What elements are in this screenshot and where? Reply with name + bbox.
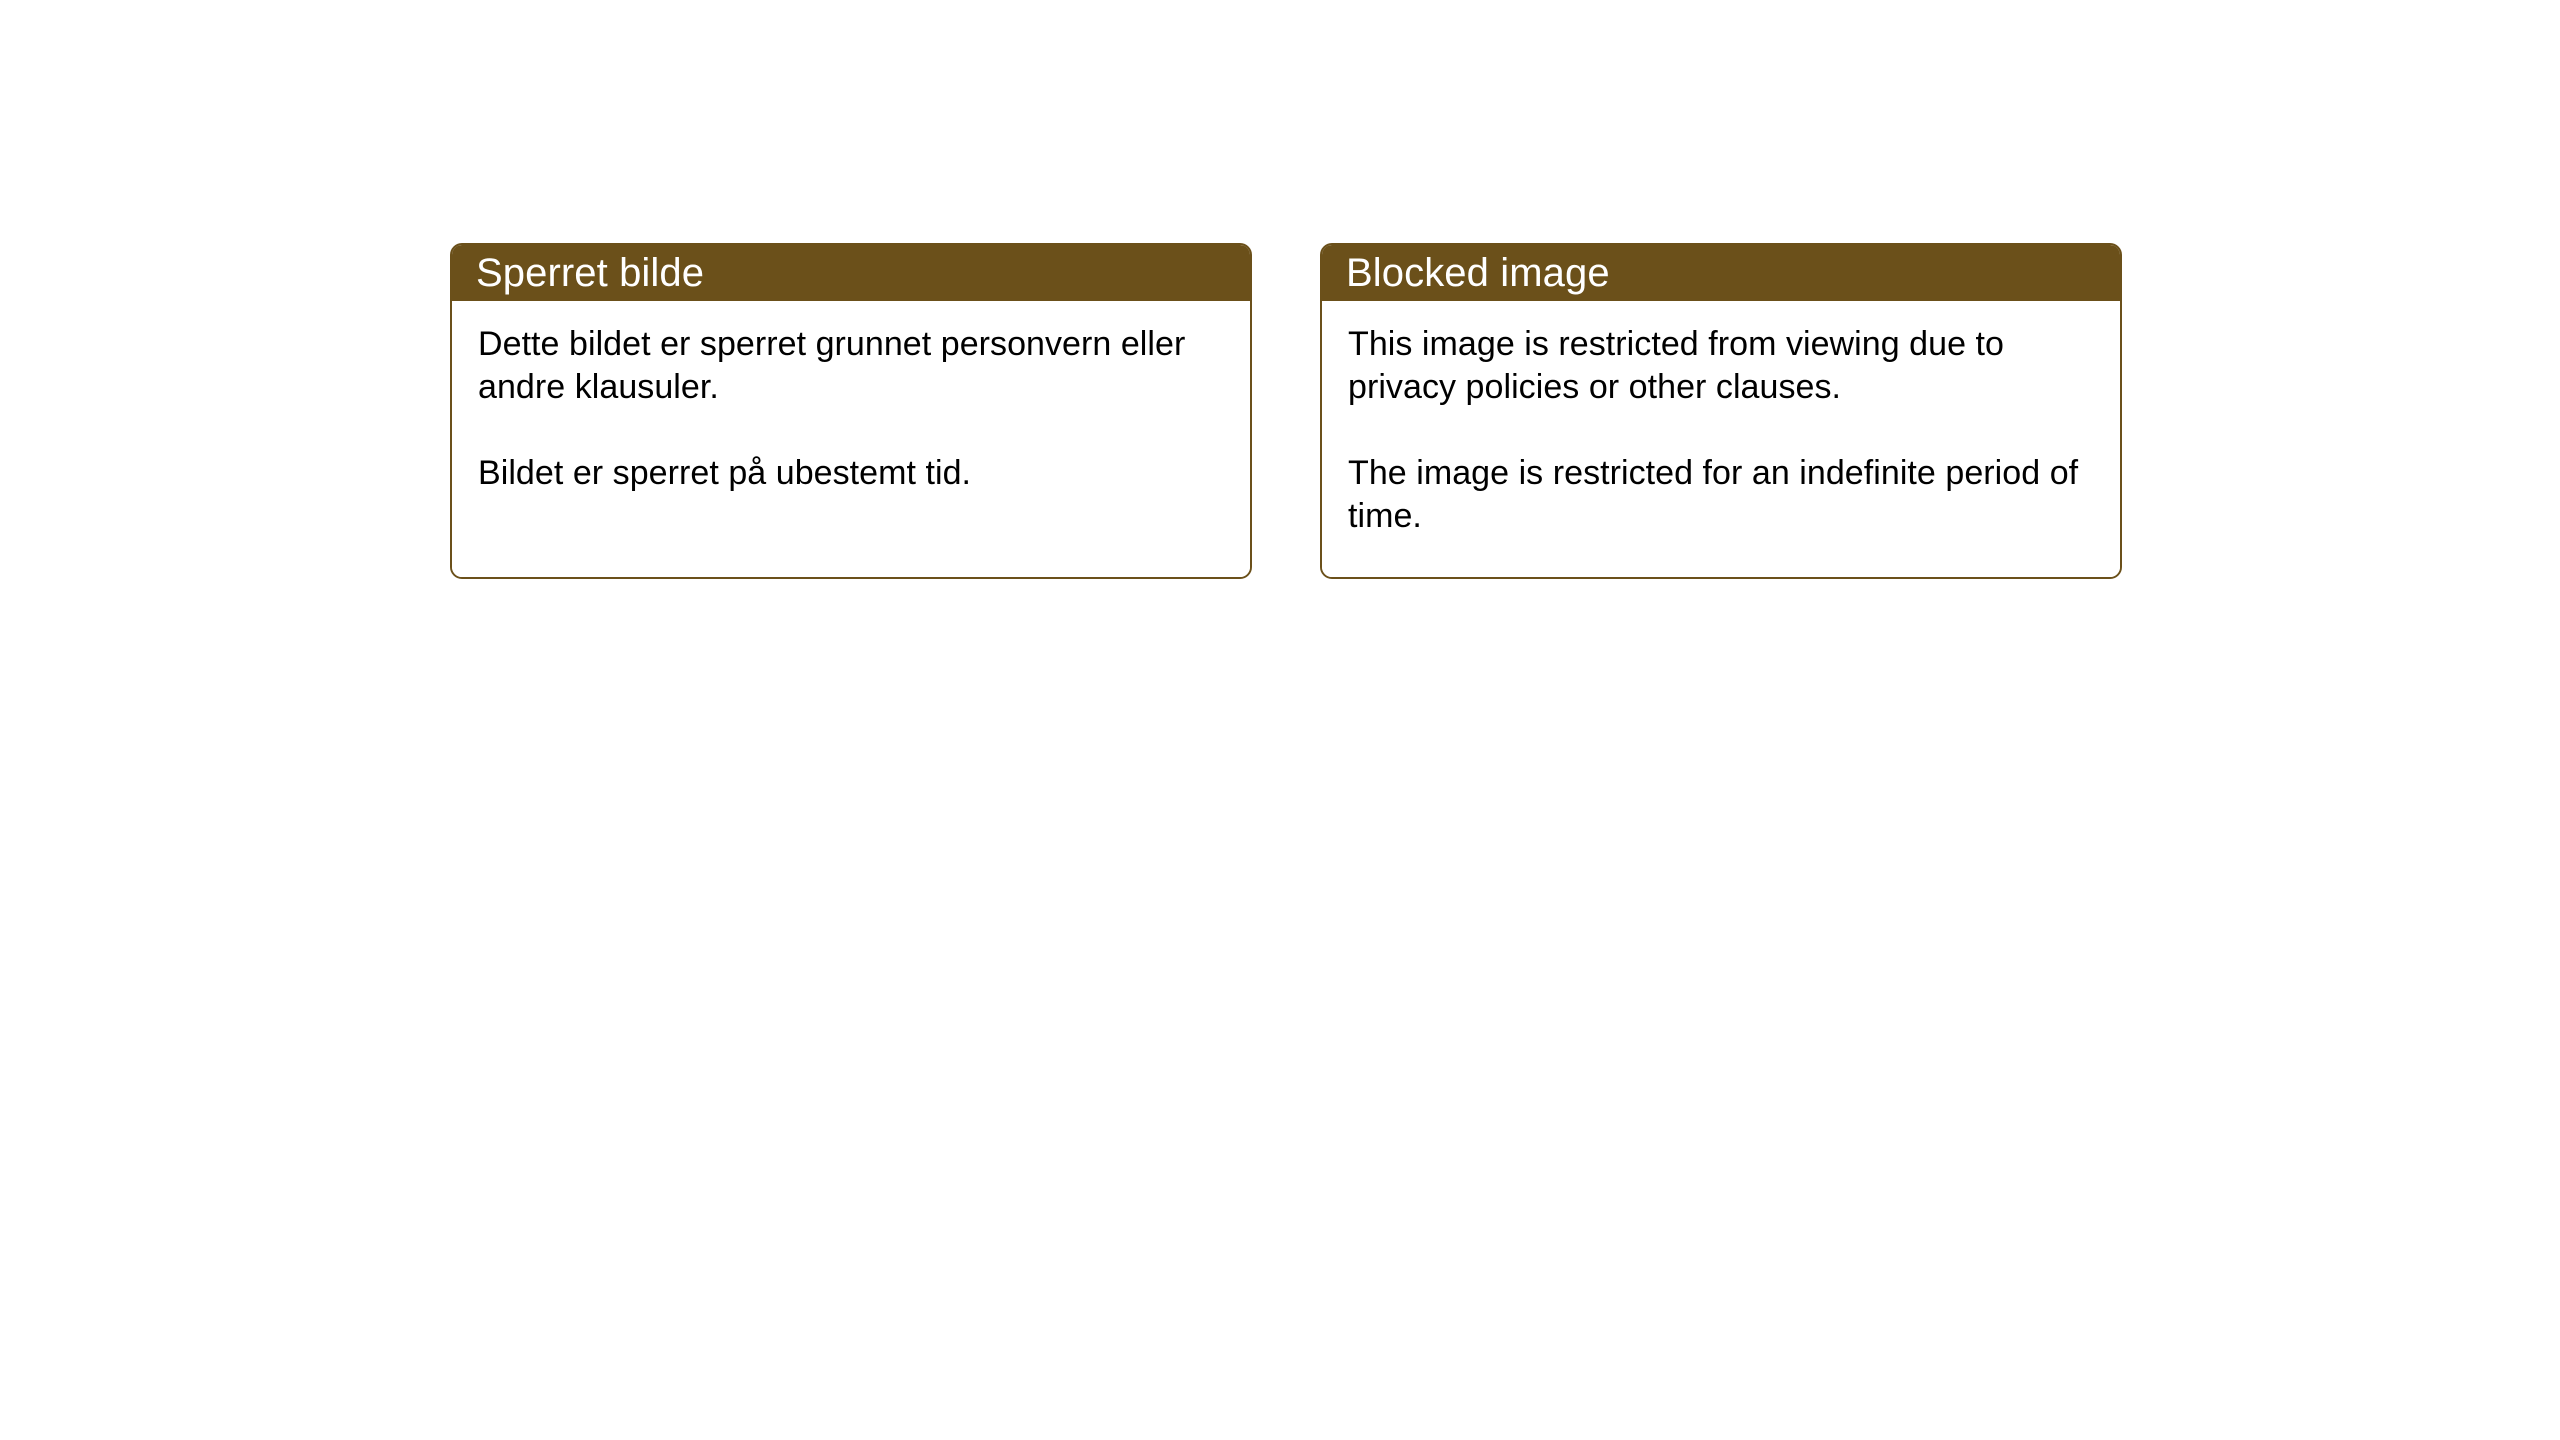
blocked-image-notice-area: Sperret bilde Dette bildet er sperret gr… [450, 243, 2122, 579]
notice-card-body-english: This image is restricted from viewing du… [1322, 301, 2120, 577]
notice-card-header-norwegian: Sperret bilde [452, 245, 1250, 301]
notice-paragraph-reason-english: This image is restricted from viewing du… [1348, 323, 2094, 409]
notice-card-title-norwegian: Sperret bilde [476, 251, 704, 295]
notice-paragraph-duration-english: The image is restricted for an indefinit… [1348, 452, 2094, 538]
notice-paragraph-reason-norwegian: Dette bildet er sperret grunnet personve… [478, 323, 1224, 409]
blocked-image-notice-card-english: Blocked image This image is restricted f… [1320, 243, 2122, 579]
blocked-image-notice-card-norwegian: Sperret bilde Dette bildet er sperret gr… [450, 243, 1252, 579]
notice-card-title-english: Blocked image [1346, 251, 1610, 295]
notice-paragraph-duration-norwegian: Bildet er sperret på ubestemt tid. [478, 452, 1224, 495]
notice-card-body-norwegian: Dette bildet er sperret grunnet personve… [452, 301, 1250, 577]
notice-card-header-english: Blocked image [1322, 245, 2120, 301]
